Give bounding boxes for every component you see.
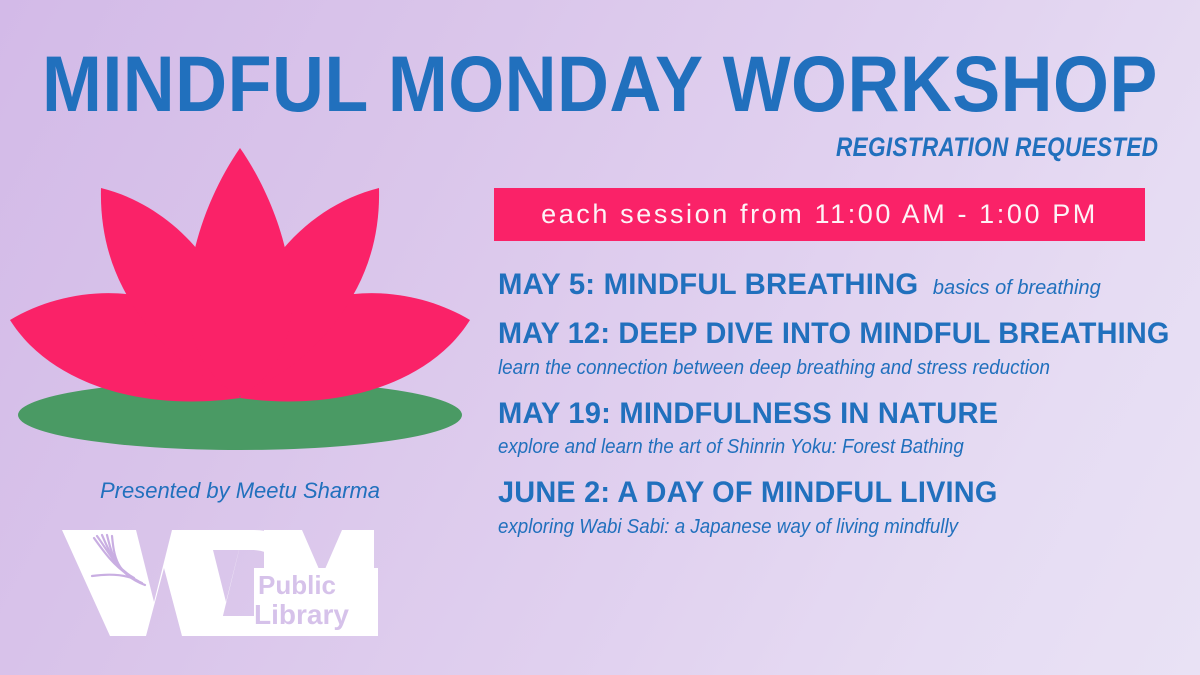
session-description: basics of breathing xyxy=(933,273,1101,303)
session-time-banner: each session from 11:00 AM - 1:00 PM xyxy=(494,188,1145,241)
session-description: explore and learn the art of Shinrin Yok… xyxy=(498,432,964,462)
library-logo: Public Library xyxy=(58,524,378,642)
session-title: JUNE 2: A DAY OF MINDFUL LIVING xyxy=(498,476,998,510)
session-item: JUNE 2: A DAY OF MINDFUL LIVING explorin… xyxy=(498,476,1178,542)
registration-note: REGISTRATION REQUESTED xyxy=(836,132,1158,163)
logo-text-library: Library xyxy=(254,599,349,630)
session-item: MAY 19: MINDFULNESS IN NATURE explore an… xyxy=(498,397,1178,463)
session-description: learn the connection between deep breath… xyxy=(498,353,1050,383)
presenter-credit: Presented by Meetu Sharma xyxy=(0,478,480,504)
session-item: MAY 12: DEEP DIVE INTO MINDFUL BREATHING… xyxy=(498,317,1178,383)
session-title: MAY 5: MINDFUL BREATHING xyxy=(498,268,918,302)
session-item: MAY 5: MINDFUL BREATHING basics of breat… xyxy=(498,268,1178,303)
lotus-flower-icon xyxy=(0,140,480,470)
session-description: exploring Wabi Sabi: a Japanese way of l… xyxy=(498,512,958,542)
session-list: MAY 5: MINDFUL BREATHING basics of breat… xyxy=(498,268,1178,556)
page-title: MINDFUL MONDAY WORKSHOP xyxy=(42,44,1062,123)
session-title: MAY 19: MINDFULNESS IN NATURE xyxy=(498,397,998,431)
petal-center xyxy=(188,148,292,396)
flyer-canvas: MINDFUL MONDAY WORKSHOP REGISTRATION REQ… xyxy=(0,0,1200,675)
session-title: MAY 12: DEEP DIVE INTO MINDFUL BREATHING xyxy=(498,317,1170,351)
logo-text-public: Public xyxy=(258,570,336,600)
session-time-text: each session from 11:00 AM - 1:00 PM xyxy=(541,199,1098,230)
